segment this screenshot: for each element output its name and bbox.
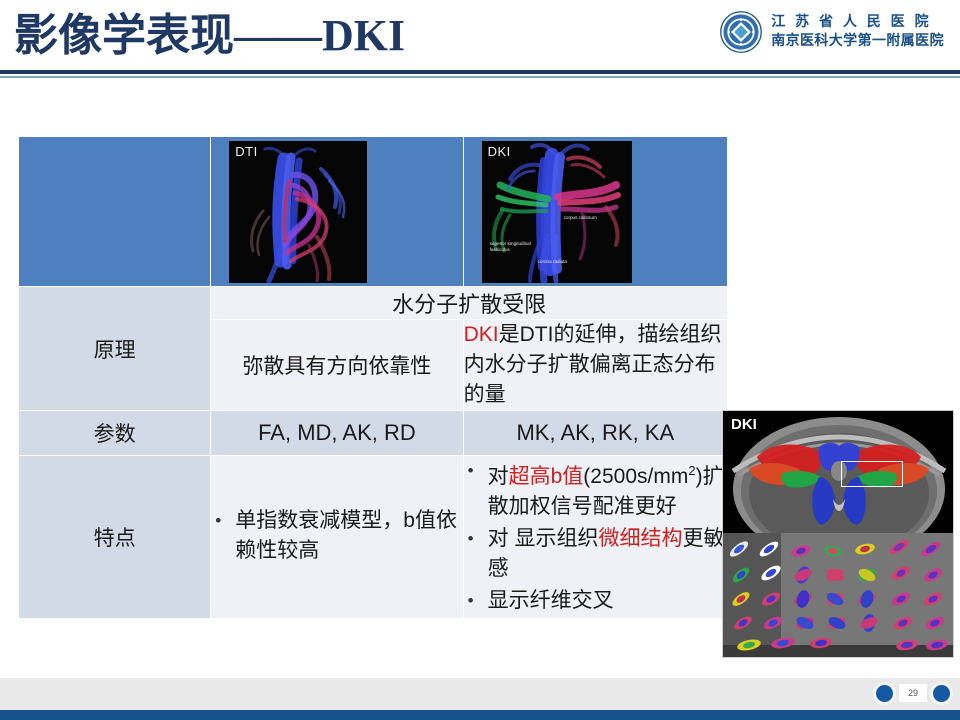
row-label-features: 特点 <box>19 456 211 619</box>
header-cell-empty <box>19 137 211 287</box>
anno-corona-radiata: corona radiata <box>538 259 567 265</box>
table-row: 特点 单指数衰减模型，b值依赖性较高 对超高b值(2500s/mm2)扩散加权信… <box>19 456 728 619</box>
header-cell-dti: DTI <box>211 137 463 287</box>
brain-coronal-art <box>723 411 954 533</box>
feature2-prefix: 对 显示组织 <box>488 527 599 550</box>
feature1-highlight: 超高b值 <box>509 465 584 488</box>
dki-panel-label: DKI <box>731 416 757 433</box>
hospital-logo-text: 江 苏 省 人 民 医 院 南京医科大学第一附属医院 <box>771 14 944 50</box>
brain-coronal-view: DKI <box>723 411 954 533</box>
anno-superior-longitudinal-fasciculus: superior longitudinal fasciculus <box>490 241 532 253</box>
next-slide-button[interactable] <box>933 685 950 702</box>
feature1-superscript: 2 <box>688 463 695 478</box>
parameters-dki-values: MK, AK, RK, KA <box>463 411 727 456</box>
header-divider-dark <box>0 70 960 74</box>
principle-shared-title: 水分子扩散受限 <box>211 287 728 320</box>
slide-number: 29 <box>899 684 927 702</box>
brain-odf-magnified-view <box>723 533 954 658</box>
hospital-logo-icon <box>719 10 763 54</box>
header-cell-dki: DKI corpus callosum superior longitudina… <box>463 137 727 287</box>
dti-image-label: DTI <box>235 144 257 159</box>
roi-selection-box <box>841 461 903 487</box>
slide-navigation[interactable]: 29 <box>876 684 950 702</box>
principle-dki-highlight: DKI <box>464 323 499 346</box>
dki-image-label: DKI <box>488 144 511 159</box>
footer-band <box>0 678 960 710</box>
dti-tract-art <box>229 141 367 283</box>
feature1-mid: (2500s/mm <box>583 465 688 488</box>
dti-tractography-image: DTI <box>229 141 367 283</box>
principle-dki-rest: 是DTI的延伸，描绘组织内水分子扩散偏离正态分布的量 <box>464 323 722 406</box>
features-dti-list: 单指数衰减模型，b值依赖性较高 <box>211 456 463 619</box>
feature1-prefix: 对 <box>488 465 509 488</box>
prev-slide-button[interactable] <box>876 685 893 702</box>
footer-bar <box>0 710 960 720</box>
page-title: 影像学表现——DKI <box>14 8 405 64</box>
table-row: DTI <box>19 137 728 287</box>
hospital-name-line1: 江 苏 省 人 民 医 院 <box>771 14 944 31</box>
table-row: 参数 FA, MD, AK, RD MK, AK, RK, KA <box>19 411 728 456</box>
hospital-name-line2: 南京医科大学第一附属医院 <box>771 33 944 50</box>
list-item: 单指数衰减模型，b值依赖性较高 <box>211 506 462 566</box>
parameters-dti-values: FA, MD, AK, RD <box>211 411 463 456</box>
hospital-logo: 江 苏 省 人 民 医 院 南京医科大学第一附属医院 <box>719 10 944 54</box>
dti-dki-comparison-table: DTI <box>18 136 728 619</box>
anno-corpus-callosum: corpus callosum <box>564 215 597 221</box>
table-row: 原理 水分子扩散受限 <box>19 287 728 320</box>
row-label-parameters: 参数 <box>19 411 211 456</box>
features-dki-list: 对超高b值(2500s/mm2)扩散加权信号配准更好 对 显示组织微细结构更敏感… <box>463 456 727 619</box>
principle-dti-text: 弥散具有方向依靠性 <box>211 320 463 411</box>
dki-brain-image: DKI <box>722 410 954 658</box>
odf-glyph-art <box>723 533 954 658</box>
header-divider-light <box>0 76 960 78</box>
principle-dki-text: DKI是DTI的延伸，描绘组织内水分子扩散偏离正态分布的量 <box>463 320 727 411</box>
feature2-highlight: 微细结构 <box>598 527 682 550</box>
row-label-principle: 原理 <box>19 287 211 411</box>
list-item: 对超高b值(2500s/mm2)扩散加权信号配准更好 <box>464 456 727 522</box>
list-item: 对 显示组织微细结构更敏感 <box>464 524 727 584</box>
list-item: 显示纤维交叉 <box>464 586 727 616</box>
slide-header: 影像学表现——DKI 江 苏 省 人 民 医 院 南京医科大学第一附属医院 <box>0 0 960 78</box>
dki-tractography-image: DKI corpus callosum superior longitudina… <box>482 141 632 283</box>
